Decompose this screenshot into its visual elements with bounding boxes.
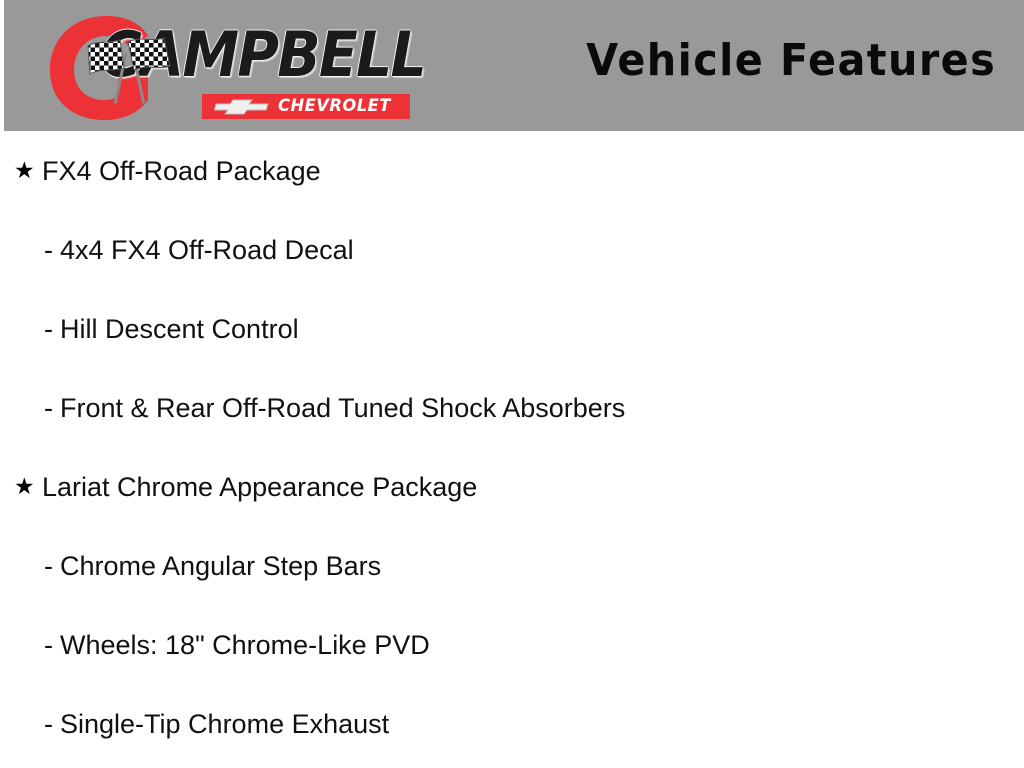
dealer-logo: CAMPBELL xyxy=(40,6,400,126)
feature-label: Hill Descent Control xyxy=(60,313,299,345)
dash-bullet-icon: - xyxy=(44,630,60,660)
feature-label: 4x4 FX4 Off-Road Decal xyxy=(60,234,354,266)
list-item: - Front & Rear Off-Road Tuned Shock Abso… xyxy=(0,368,1024,447)
slide-header: CAMPBELL xyxy=(4,0,1024,131)
chevrolet-band: CHEVROLET xyxy=(202,94,410,119)
feature-label: Front & Rear Off-Road Tuned Shock Absorb… xyxy=(60,392,625,424)
chevrolet-wordmark: CHEVROLET xyxy=(278,97,391,116)
dash-bullet-icon: - xyxy=(44,551,60,581)
dash-bullet-icon: - xyxy=(44,235,60,265)
chevrolet-bowtie-icon xyxy=(214,98,270,115)
list-item: ★ FX4 Off-Road Package xyxy=(0,131,1024,210)
feature-list: ★ FX4 Off-Road Package - 4x4 FX4 Off-Roa… xyxy=(0,131,1024,763)
list-item: - Chrome Angular Step Bars xyxy=(0,526,1024,605)
checkered-racing-flags-icon xyxy=(86,34,178,106)
list-item: - Wheels: 18" Chrome-Like PVD xyxy=(0,605,1024,684)
list-item: - Hill Descent Control xyxy=(0,289,1024,368)
dash-bullet-icon: - xyxy=(44,709,60,739)
list-item: - Single-Tip Chrome Exhaust xyxy=(0,684,1024,763)
feature-label: Chrome Angular Step Bars xyxy=(60,550,381,582)
slide-root: CAMPBELL xyxy=(0,0,1024,768)
dash-bullet-icon: - xyxy=(44,393,60,423)
star-bullet-icon: ★ xyxy=(14,157,42,185)
star-bullet-icon: ★ xyxy=(14,473,42,501)
list-item: ★ Lariat Chrome Appearance Package xyxy=(0,447,1024,526)
feature-label: Single-Tip Chrome Exhaust xyxy=(60,708,389,740)
dash-bullet-icon: - xyxy=(44,314,60,344)
feature-label: Wheels: 18" Chrome-Like PVD xyxy=(60,629,430,661)
feature-label: FX4 Off-Road Package xyxy=(42,155,321,187)
page-title: Vehicle Features xyxy=(586,36,996,86)
feature-label: Lariat Chrome Appearance Package xyxy=(42,471,477,503)
list-item: - 4x4 FX4 Off-Road Decal xyxy=(0,210,1024,289)
